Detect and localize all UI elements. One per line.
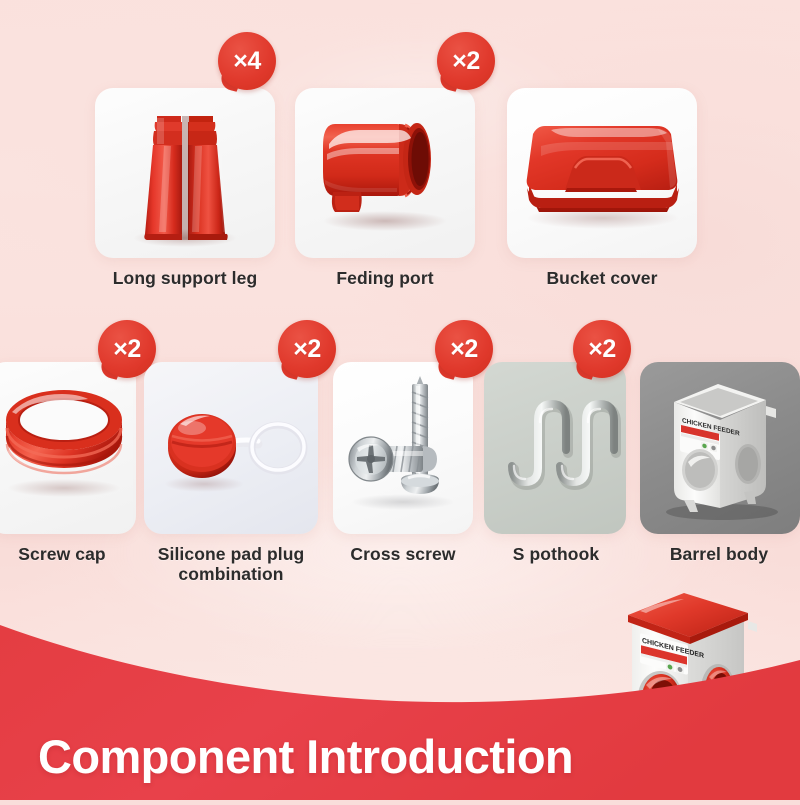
component-image-silicone-plug: [144, 362, 318, 534]
quantity-badge-silicone-pad-plug-combination: ×2: [278, 320, 340, 382]
support-legs-icon: [95, 88, 275, 258]
component-label: Feding port: [283, 268, 487, 288]
badge-count: ×2: [573, 320, 631, 378]
quantity-badge-feding-port: ×2: [437, 32, 499, 94]
component-image-s-hook: [484, 362, 626, 534]
badge-count: ×2: [437, 32, 495, 90]
s-hook-icon: [484, 362, 626, 534]
component-label: S pothook: [468, 544, 644, 564]
component-label: Barrel body: [624, 544, 800, 564]
component-card: [0, 362, 136, 534]
component-item-bucket-cover[interactable]: Bucket cover: [507, 88, 697, 303]
component-card: [484, 362, 626, 534]
cross-screw-icon: [333, 362, 473, 534]
component-item-screw-cap[interactable]: Screw cap: [0, 362, 136, 577]
component-label: Bucket cover: [495, 268, 709, 288]
component-image-support-legs: [95, 88, 275, 258]
bottom-banner: Component Introduction: [0, 620, 800, 800]
component-card: [507, 88, 697, 258]
component-label: Cross screw: [315, 544, 491, 564]
component-item-feding-port[interactable]: Feding port: [295, 88, 475, 303]
component-label: Screw cap: [0, 544, 150, 564]
component-card: CHICKEN FEEDER: [640, 362, 800, 534]
badge-count: ×2: [278, 320, 336, 378]
quantity-badge-s-pothook: ×2: [573, 320, 635, 382]
component-image-bucket-cover: [507, 88, 697, 258]
barrel-body-icon: CHICKEN FEEDER: [640, 362, 800, 534]
component-image-cross-screw: [333, 362, 473, 534]
component-card: [95, 88, 275, 258]
component-item-long-support-leg[interactable]: Long support leg: [95, 88, 275, 303]
component-card: [144, 362, 318, 534]
quantity-badge-long-support-leg: ×4: [218, 32, 280, 94]
screw-cap-icon: [0, 362, 136, 534]
component-item-s-pothook[interactable]: S pothook: [484, 362, 626, 577]
component-image-feeding-port: [295, 88, 475, 258]
page-title: Component Introduction: [38, 729, 573, 784]
component-item-cross-screw[interactable]: Cross screw: [333, 362, 473, 577]
component-image-barrel-body: CHICKEN FEEDER: [640, 362, 800, 534]
component-item-barrel-body[interactable]: CHICKEN FEEDER: [640, 362, 800, 577]
component-item-silicone-pad-plug-combination[interactable]: Silicone pad plug combination: [144, 362, 318, 577]
component-card: [295, 88, 475, 258]
component-label: Silicone pad plug combination: [131, 544, 331, 585]
silicone-plug-icon: [144, 362, 318, 534]
component-label: Long support leg: [83, 268, 287, 288]
feeding-port-icon: [295, 88, 475, 258]
bucket-cover-icon: [507, 88, 697, 258]
component-card: [333, 362, 473, 534]
badge-count: ×4: [218, 32, 276, 90]
component-image-screw-cap: [0, 362, 136, 534]
